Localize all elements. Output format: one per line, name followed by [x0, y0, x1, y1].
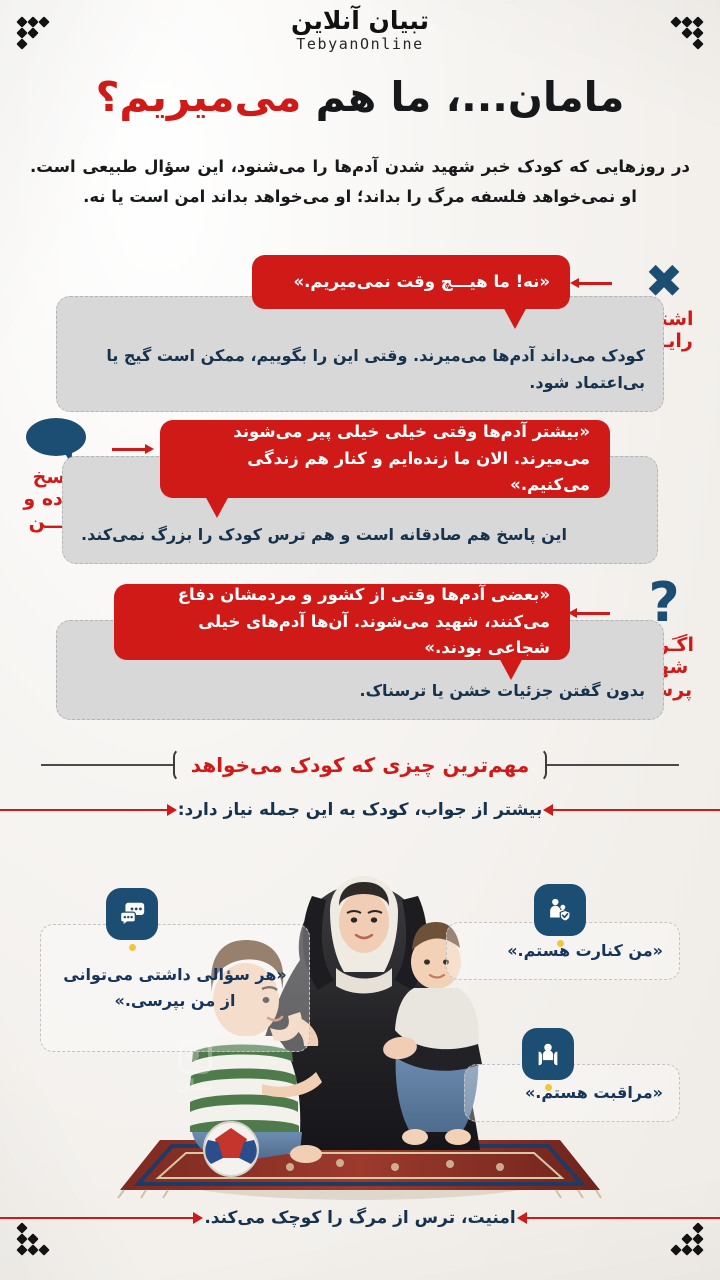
page-title-red: می‌میریم؟: [96, 73, 302, 121]
mistake-quote-text: «نه! ما هیـــچ وقت نمی‌میریم.»: [272, 269, 550, 296]
footer-line: امنیت، ترس از مرگ را کوچک می‌کند.: [0, 1208, 720, 1228]
tip-box-caring: «مراقبت هستم.»: [464, 1064, 680, 1122]
tip-box-ask-me: «هر سؤالی داشتی می‌توانی از من بپرسی.»: [40, 924, 310, 1052]
intro-paragraph: در روزهایی که کودک خبر شهید شدن آدم‌ها ر…: [30, 152, 690, 212]
arrow-to-mistake-quote: [578, 282, 612, 285]
martyrs-quote-text: «بعضی آدم‌ها وقتی از کشور و مردمشان دفاع…: [134, 582, 550, 662]
need-line-text: بیشتر از جواب، کودک به این جمله نیاز دار…: [178, 800, 543, 820]
arrow-to-martyrs-quote: [576, 612, 610, 615]
bubble-tail: [498, 656, 524, 680]
kicker-rule-right: [547, 764, 679, 766]
chat-bubbles-icon: [106, 888, 158, 940]
brand-logo: تبیان آنلاین TebyanOnline: [0, 8, 720, 53]
arrow-to-safe-answer-quote: [112, 448, 146, 451]
caring-hands-icon: [522, 1028, 574, 1080]
martyrs-quote-bubble: «بعضی آدم‌ها وقتی از کشور و مردمشان دفاع…: [114, 584, 570, 660]
bubble-tail: [204, 494, 230, 518]
mistake-quote-bubble: «نه! ما هیـــچ وقت نمی‌میریم.»: [252, 255, 570, 309]
need-line: بیشتر از جواب، کودک به این جمله نیاز دار…: [0, 800, 720, 820]
safe-answer-quote-text: «بیشتر آدم‌ها وقتی خیلی خیلی پیر می‌شوند…: [180, 419, 590, 499]
need-arrow-right: [552, 809, 720, 812]
brand-logo-fa: تبیان آنلاین: [0, 8, 720, 34]
watermark-text: تبیان: [150, 1076, 240, 1094]
kicker-text: مهم‌ترین چیزی که کودک می‌خواهد: [173, 748, 547, 782]
page-title-dark: مامان...، ما هم: [301, 73, 624, 121]
safe-answer-note-text: این پاسخ هم صادقانه است و هم ترس کودک را…: [81, 521, 639, 549]
footer-text: امنیت، ترس از مرگ را کوچک می‌کند.: [204, 1208, 515, 1228]
infographic-poster: تبیان آنلاین TebyanOnline مامان...، ما ه…: [0, 0, 720, 1280]
bubble-tail: [502, 305, 528, 329]
need-arrow-left: [0, 809, 168, 812]
martyrs-note-text: بدون گفتن جزئیات خشن یا ترسناک.: [75, 677, 645, 705]
mistake-note-box: کودک می‌داند آدم‌ها می‌میرند. وقتی این ر…: [56, 296, 664, 412]
safe-answer-quote-bubble: «بیشتر آدم‌ها وقتی خیلی خیلی پیر می‌شوند…: [160, 420, 610, 498]
parent-child-shield-icon: [534, 884, 586, 936]
corner-dots-top-left: [18, 18, 58, 58]
footer-arrow-right: [526, 1217, 720, 1220]
section-kicker: مهم‌ترین چیزی که کودک می‌خواهد: [0, 748, 720, 782]
tip-text-caring: «مراقبت هستم.»: [481, 1080, 663, 1106]
corner-dots-top-right: [662, 18, 702, 58]
brand-logo-en: TebyanOnline: [0, 35, 720, 53]
kicker-rule-left: [41, 764, 173, 766]
tip-text-ask-me: «هر سؤالی داشتی می‌توانی از من بپرسی.»: [57, 962, 293, 1013]
page-title: مامان...، ما هم می‌میریم؟: [0, 74, 720, 121]
mistake-note-text: کودک می‌داند آدم‌ها می‌میرند. وقتی این ر…: [75, 342, 645, 397]
footer-arrow-left: [0, 1217, 194, 1220]
